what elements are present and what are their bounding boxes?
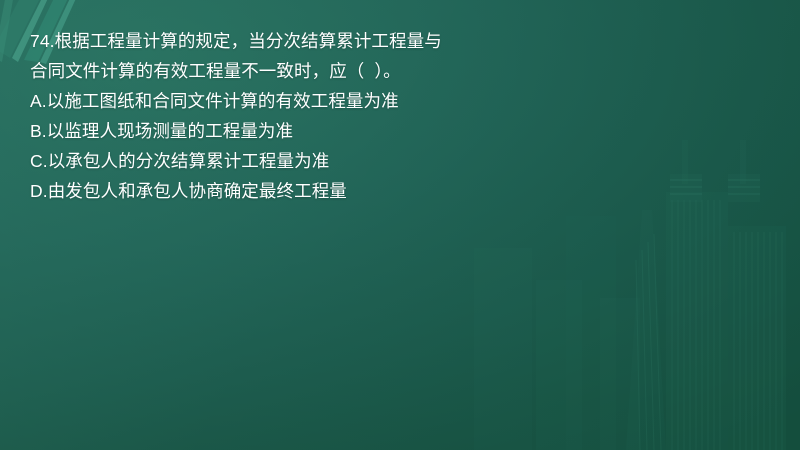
- option-c[interactable]: C.以承包人的分次结算累计工程量为准: [30, 146, 770, 176]
- option-a[interactable]: A.以施工图纸和合同文件计算的有效工程量为准: [30, 86, 770, 116]
- question-line-2: 合同文件计算的有效工程量不一致时，应（ ）。: [30, 56, 770, 86]
- question-line-1: 74.根据工程量计算的规定，当分次结算累计工程量与: [30, 26, 770, 56]
- option-b[interactable]: B.以监理人现场测量的工程量为准: [30, 116, 770, 146]
- slide-canvas: 74.根据工程量计算的规定，当分次结算累计工程量与 合同文件计算的有效工程量不一…: [0, 0, 800, 450]
- option-d[interactable]: D.由发包人和承包人协商确定最终工程量: [30, 176, 770, 206]
- question-block: 74.根据工程量计算的规定，当分次结算累计工程量与 合同文件计算的有效工程量不一…: [30, 26, 770, 206]
